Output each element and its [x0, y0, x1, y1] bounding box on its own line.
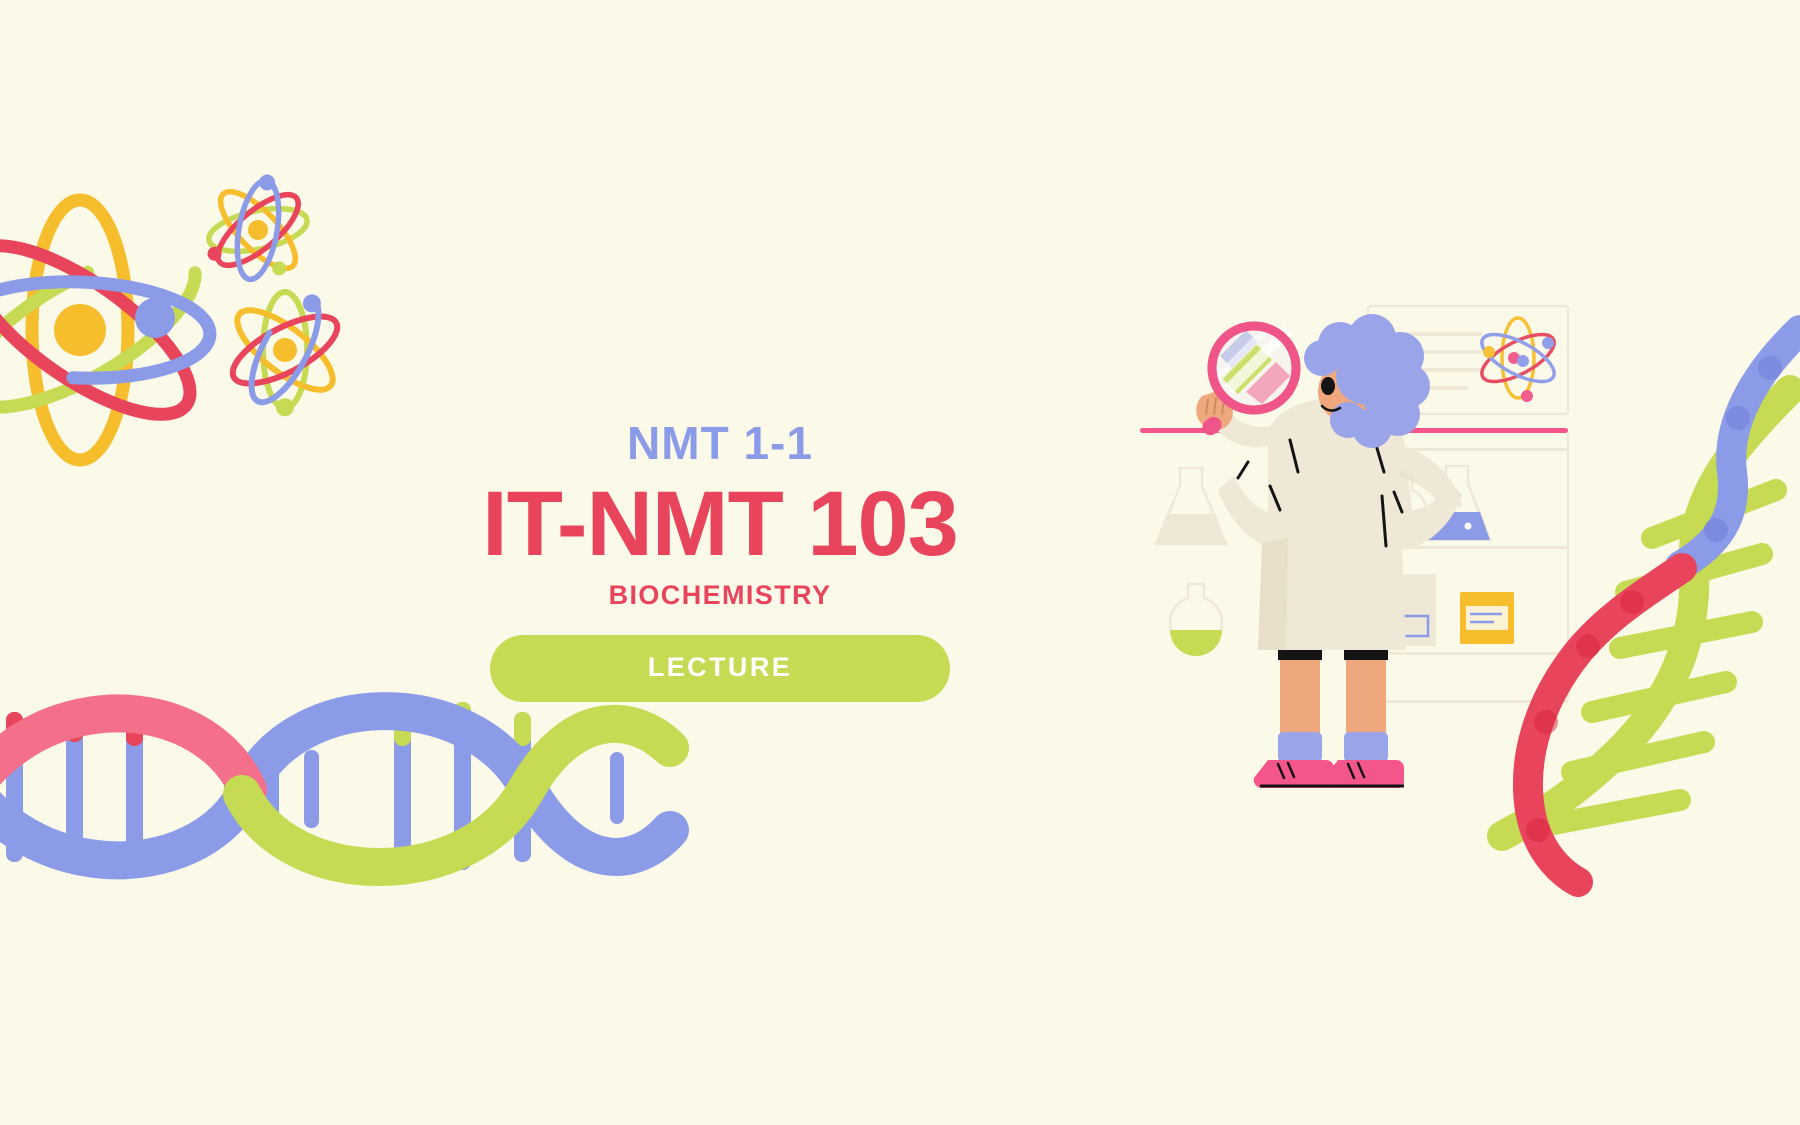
page-title: IT-NMT 103: [420, 478, 1020, 572]
conical-flask-beige: [1156, 468, 1226, 544]
dna-helix-vertical: [1480, 330, 1800, 930]
title-block: NMT 1-1 IT-NMT 103 BIOCHEMISTRY LECTURE: [420, 420, 1020, 702]
course-subject: BIOCHEMISTRY: [420, 582, 1020, 609]
slide-canvas: NMT 1-1 IT-NMT 103 BIOCHEMISTRY LECTURE: [0, 0, 1800, 1125]
course-code: NMT 1-1: [420, 420, 1020, 466]
scientist-figure: [1196, 314, 1462, 788]
legs: [1254, 644, 1404, 788]
atoms-cluster: [0, 170, 420, 510]
atom-small-upper: [191, 160, 325, 296]
atom-large: [0, 200, 217, 460]
atom-small-lower: [212, 277, 359, 426]
lecture-button[interactable]: LECTURE: [490, 635, 950, 702]
dna-helix-horizontal: [0, 690, 670, 890]
eye: [1321, 377, 1335, 395]
round-flask-yellow-green: [1170, 584, 1222, 656]
